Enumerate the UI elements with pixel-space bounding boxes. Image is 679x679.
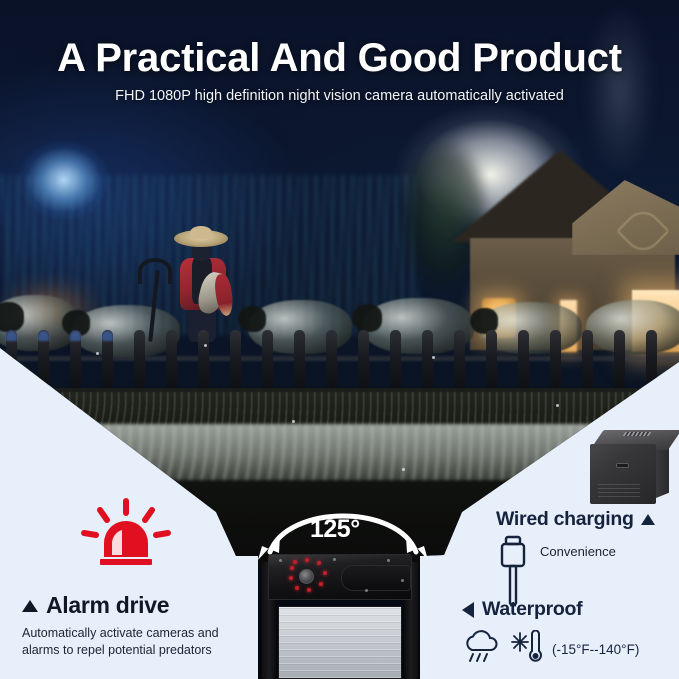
rain-cloud-icon	[462, 630, 502, 669]
straw-hat-crown	[190, 226, 212, 239]
shepherd-figure	[170, 230, 240, 340]
waterproof-spec-row: (-15°F--140°F)	[462, 630, 679, 669]
ir-led-icon	[289, 576, 293, 580]
sheep-head	[0, 302, 24, 332]
fov-angle-label: 125°	[310, 515, 360, 544]
battery-label	[598, 484, 640, 498]
waterproof-heading: Waterproof	[482, 598, 582, 621]
ir-led-icon	[305, 558, 309, 562]
triangle-up-marker	[641, 514, 655, 525]
solar-panel	[278, 606, 402, 679]
wired-charging-block: Wired charging Convenience	[496, 508, 679, 612]
ir-led-icon	[295, 586, 299, 590]
page-title: A Practical And Good Product	[0, 36, 679, 81]
ir-led-icon	[323, 571, 327, 575]
ir-led-icon	[317, 561, 321, 565]
convenience-caption: Convenience	[540, 544, 616, 559]
waterproof-heading-row: Waterproof	[462, 598, 679, 621]
sheep-head	[238, 306, 266, 332]
waterproof-block: Waterproof	[462, 598, 679, 669]
camera-lens-icon	[299, 569, 314, 584]
wired-charging-heading: Wired charging	[496, 508, 634, 531]
battery-pack-image	[590, 430, 674, 508]
alarm-heading: Alarm drive	[46, 592, 169, 619]
alarm-feature-block: Alarm drive Automatically activate camer…	[22, 592, 262, 659]
siren-alarm-icon	[78, 497, 174, 574]
solar-camera-device	[262, 554, 418, 679]
ir-led-icon	[290, 566, 294, 570]
stone-wall-texture	[0, 424, 679, 480]
ir-led-icon	[319, 582, 323, 586]
wired-charging-heading-row: Wired charging	[496, 508, 679, 531]
ir-led-icon	[293, 560, 297, 564]
page-subtitle: FHD 1080P high definition night vision c…	[0, 88, 679, 104]
alarm-heading-row: Alarm drive	[22, 592, 262, 619]
snowflake-thermometer-icon	[511, 630, 543, 669]
device-housing	[268, 554, 412, 600]
sheep-head	[352, 304, 382, 332]
battery-contacts	[623, 432, 652, 436]
triangle-left-marker	[462, 602, 474, 618]
product-feature-page: A Practical And Good Product FHD 1080P h…	[0, 0, 679, 679]
battery-port	[616, 463, 629, 468]
battery-front	[590, 444, 656, 504]
temperature-range-label: (-15°F--140°F)	[552, 642, 639, 657]
alarm-description: Automatically activate cameras and alarm…	[22, 625, 244, 659]
device-recess	[341, 565, 411, 591]
shepherd-arm	[213, 273, 235, 317]
ir-led-icon	[307, 588, 311, 592]
triangle-up-marker	[22, 600, 38, 612]
